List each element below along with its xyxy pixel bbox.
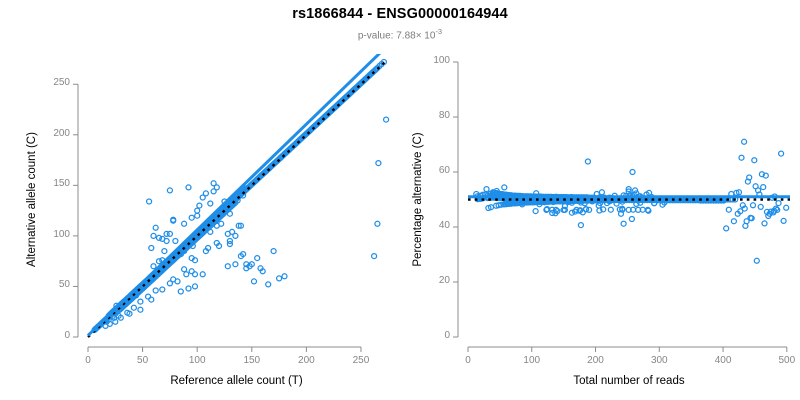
x-tick-label: 100 [502,355,562,366]
data-point [225,231,230,236]
data-point [195,208,200,213]
data-point [762,221,767,226]
x-tick-label: 250 [331,355,391,366]
data-point [195,213,200,218]
data-point [227,211,232,216]
data-point [255,256,260,261]
x-axis-label: Total number of reads [468,375,790,387]
data-point [157,259,162,264]
data-point [630,170,635,175]
data-point [533,209,538,214]
data-point [186,286,191,291]
x-tick-label: 50 [113,355,173,366]
x-axis-label: Reference allele count (T) [88,375,385,387]
data-point [160,287,165,292]
y-tick-label: 0 [0,330,450,341]
data-point [578,223,583,228]
data-point [151,264,156,269]
data-point [779,151,784,156]
y-tick-label: 100 [0,55,450,66]
data-point [776,201,781,206]
fit-line [88,48,385,335]
figure-title: rs1866844 - ENSG00000164944 [0,6,800,22]
data-point [271,249,276,254]
data-point [484,187,489,192]
data-point [233,233,238,238]
data-point [167,231,172,236]
data-point [208,201,213,206]
data-point [138,307,143,312]
data-point [147,199,152,204]
data-point [178,289,183,294]
data-point [153,288,158,293]
x-tick-label: 0 [438,355,498,366]
data-point [372,254,377,259]
data-layer [468,139,790,263]
data-point [752,158,757,163]
y-tick-label: 80 [0,110,450,121]
data-point [739,155,744,160]
data-point [724,226,729,231]
data-point [758,204,763,209]
data-point [167,188,172,193]
data-point [608,207,613,212]
data-point [189,269,194,274]
panel-allele-count-scatter [73,48,389,352]
data-point [131,305,136,310]
data-point [754,258,759,263]
data-point [761,185,766,190]
data-point [585,159,590,164]
data-point [138,299,143,304]
data-point [621,221,626,226]
x-tick-label: 0 [58,355,118,366]
data-point [751,203,756,208]
data-point [149,297,154,302]
data-point [744,219,749,224]
data-point [629,217,634,222]
y-tick-label: 40 [0,220,450,231]
data-point [225,264,230,269]
scatter-points [474,139,789,263]
y-tick-label: 20 [0,275,450,286]
data-point [502,185,507,190]
data-point [233,262,238,267]
data-point [742,139,747,144]
x-tick-label: 150 [222,355,282,366]
x-tick-label: 500 [757,355,800,366]
y-tick-label: 60 [0,165,450,176]
data-point [726,207,731,212]
x-tick-label: 200 [276,355,336,366]
y-axis-label: Percentage alternative (C) [412,62,424,337]
figure-subtitle: p-value: 7.88× 10-3 [0,27,800,41]
data-point [599,190,604,195]
data-point [731,219,736,224]
data-point [149,246,154,251]
data-point [162,249,167,254]
data-point [197,203,202,208]
pvalue-text: p-value: 7.88× 10 [358,30,436,41]
pvalue-exponent: -3 [435,27,442,36]
data-point [784,205,789,210]
data-point [173,239,178,244]
figure-canvas: rs1866844 - ENSG00000164944 p-value: 7.8… [0,0,800,400]
data-point [781,218,786,223]
data-point [186,185,191,190]
y-axis-label: Alternative allele count (C) [26,62,38,337]
data-layer [88,48,389,337]
data-point [211,189,216,194]
x-tick-label: 100 [167,355,227,366]
x-tick-label: 200 [566,355,626,366]
panel-percentage-alternative-scatter [453,62,790,352]
data-point [151,233,156,238]
x-tick-label: 400 [693,355,753,366]
data-point [157,235,162,240]
data-point [200,195,205,200]
x-tick-label: 300 [629,355,689,366]
data-point [164,239,169,244]
data-point [211,181,216,186]
data-point [182,267,187,272]
